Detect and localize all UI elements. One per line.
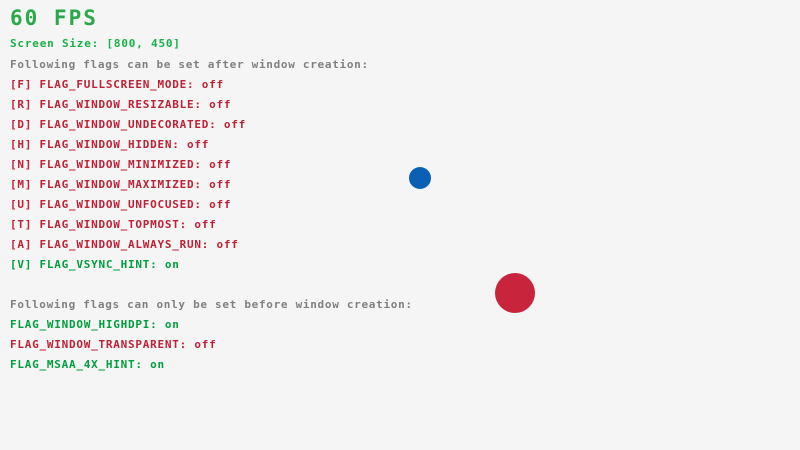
flag-shortcut-key: [T] bbox=[10, 218, 40, 231]
red-ball bbox=[495, 273, 535, 313]
flag-row[interactable]: [R] FLAG_WINDOW_RESIZABLE: off bbox=[10, 99, 246, 119]
blue-ball bbox=[409, 167, 431, 189]
flag-row[interactable]: [A] FLAG_WINDOW_ALWAYS_RUN: off bbox=[10, 239, 246, 259]
flag-row[interactable]: FLAG_WINDOW_TRANSPARENT: off bbox=[10, 339, 216, 359]
flag-row[interactable]: [F] FLAG_FULLSCREEN_MODE: off bbox=[10, 79, 246, 99]
flag-name: FLAG_WINDOW_UNDECORATED: bbox=[40, 118, 224, 131]
flag-name: FLAG_WINDOW_MAXIMIZED: bbox=[40, 178, 210, 191]
flag-value: off bbox=[194, 218, 216, 231]
before-creation-flag-list: FLAG_WINDOW_HIGHDPI: onFLAG_WINDOW_TRANS… bbox=[10, 319, 216, 379]
flag-name: FLAG_WINDOW_MINIMIZED: bbox=[40, 158, 210, 171]
flag-row[interactable]: [V] FLAG_VSYNC_HINT: on bbox=[10, 259, 246, 279]
flag-row[interactable]: [U] FLAG_WINDOW_UNFOCUSED: off bbox=[10, 199, 246, 219]
after-creation-flag-list: [F] FLAG_FULLSCREEN_MODE: off[R] FLAG_WI… bbox=[10, 79, 246, 279]
flag-value: off bbox=[224, 118, 246, 131]
flag-value: on bbox=[165, 318, 180, 331]
flag-value: off bbox=[187, 138, 209, 151]
flag-name: FLAG_VSYNC_HINT: bbox=[40, 258, 165, 271]
flag-name: FLAG_WINDOW_TRANSPARENT: bbox=[10, 338, 194, 351]
flag-value: on bbox=[165, 258, 180, 271]
flag-name: FLAG_WINDOW_HIDDEN: bbox=[40, 138, 187, 151]
flag-shortcut-key: [D] bbox=[10, 118, 40, 131]
flag-row[interactable]: [M] FLAG_WINDOW_MAXIMIZED: off bbox=[10, 179, 246, 199]
app-window: 60 FPS Screen Size: [800, 450] Following… bbox=[0, 0, 800, 450]
flag-value: off bbox=[194, 338, 216, 351]
flag-name: FLAG_WINDOW_ALWAYS_RUN: bbox=[40, 238, 217, 251]
flag-name: FLAG_WINDOW_TOPMOST: bbox=[40, 218, 195, 231]
flag-row[interactable]: FLAG_MSAA_4X_HINT: on bbox=[10, 359, 216, 379]
after-creation-note: Following flags can be set after window … bbox=[10, 59, 369, 70]
flag-shortcut-key: [N] bbox=[10, 158, 40, 171]
fps-counter: 60 FPS bbox=[10, 8, 98, 29]
flag-row[interactable]: [H] FLAG_WINDOW_HIDDEN: off bbox=[10, 139, 246, 159]
flag-shortcut-key: [H] bbox=[10, 138, 40, 151]
flag-shortcut-key: [U] bbox=[10, 198, 40, 211]
flag-shortcut-key: [V] bbox=[10, 258, 40, 271]
flag-shortcut-key: [M] bbox=[10, 178, 40, 191]
flag-value: off bbox=[216, 238, 238, 251]
flag-value: off bbox=[209, 178, 231, 191]
flag-row[interactable]: FLAG_WINDOW_HIGHDPI: on bbox=[10, 319, 216, 339]
flag-name: FLAG_MSAA_4X_HINT: bbox=[10, 358, 150, 371]
flag-shortcut-key: [A] bbox=[10, 238, 40, 251]
before-creation-note: Following flags can only be set before w… bbox=[10, 299, 413, 310]
flag-name: FLAG_WINDOW_UNFOCUSED: bbox=[40, 198, 210, 211]
flag-name: FLAG_WINDOW_RESIZABLE: bbox=[40, 98, 210, 111]
flag-row[interactable]: [N] FLAG_WINDOW_MINIMIZED: off bbox=[10, 159, 246, 179]
flag-shortcut-key: [R] bbox=[10, 98, 40, 111]
flag-value: off bbox=[209, 158, 231, 171]
flag-name: FLAG_WINDOW_HIGHDPI: bbox=[10, 318, 165, 331]
flag-name: FLAG_FULLSCREEN_MODE: bbox=[40, 78, 202, 91]
flag-value: off bbox=[209, 98, 231, 111]
flag-row[interactable]: [T] FLAG_WINDOW_TOPMOST: off bbox=[10, 219, 246, 239]
flag-value: on bbox=[150, 358, 165, 371]
flag-shortcut-key: [F] bbox=[10, 78, 40, 91]
flag-row[interactable]: [D] FLAG_WINDOW_UNDECORATED: off bbox=[10, 119, 246, 139]
flag-value: off bbox=[202, 78, 224, 91]
flag-value: off bbox=[209, 198, 231, 211]
screen-size-label: Screen Size: [800, 450] bbox=[10, 38, 181, 49]
